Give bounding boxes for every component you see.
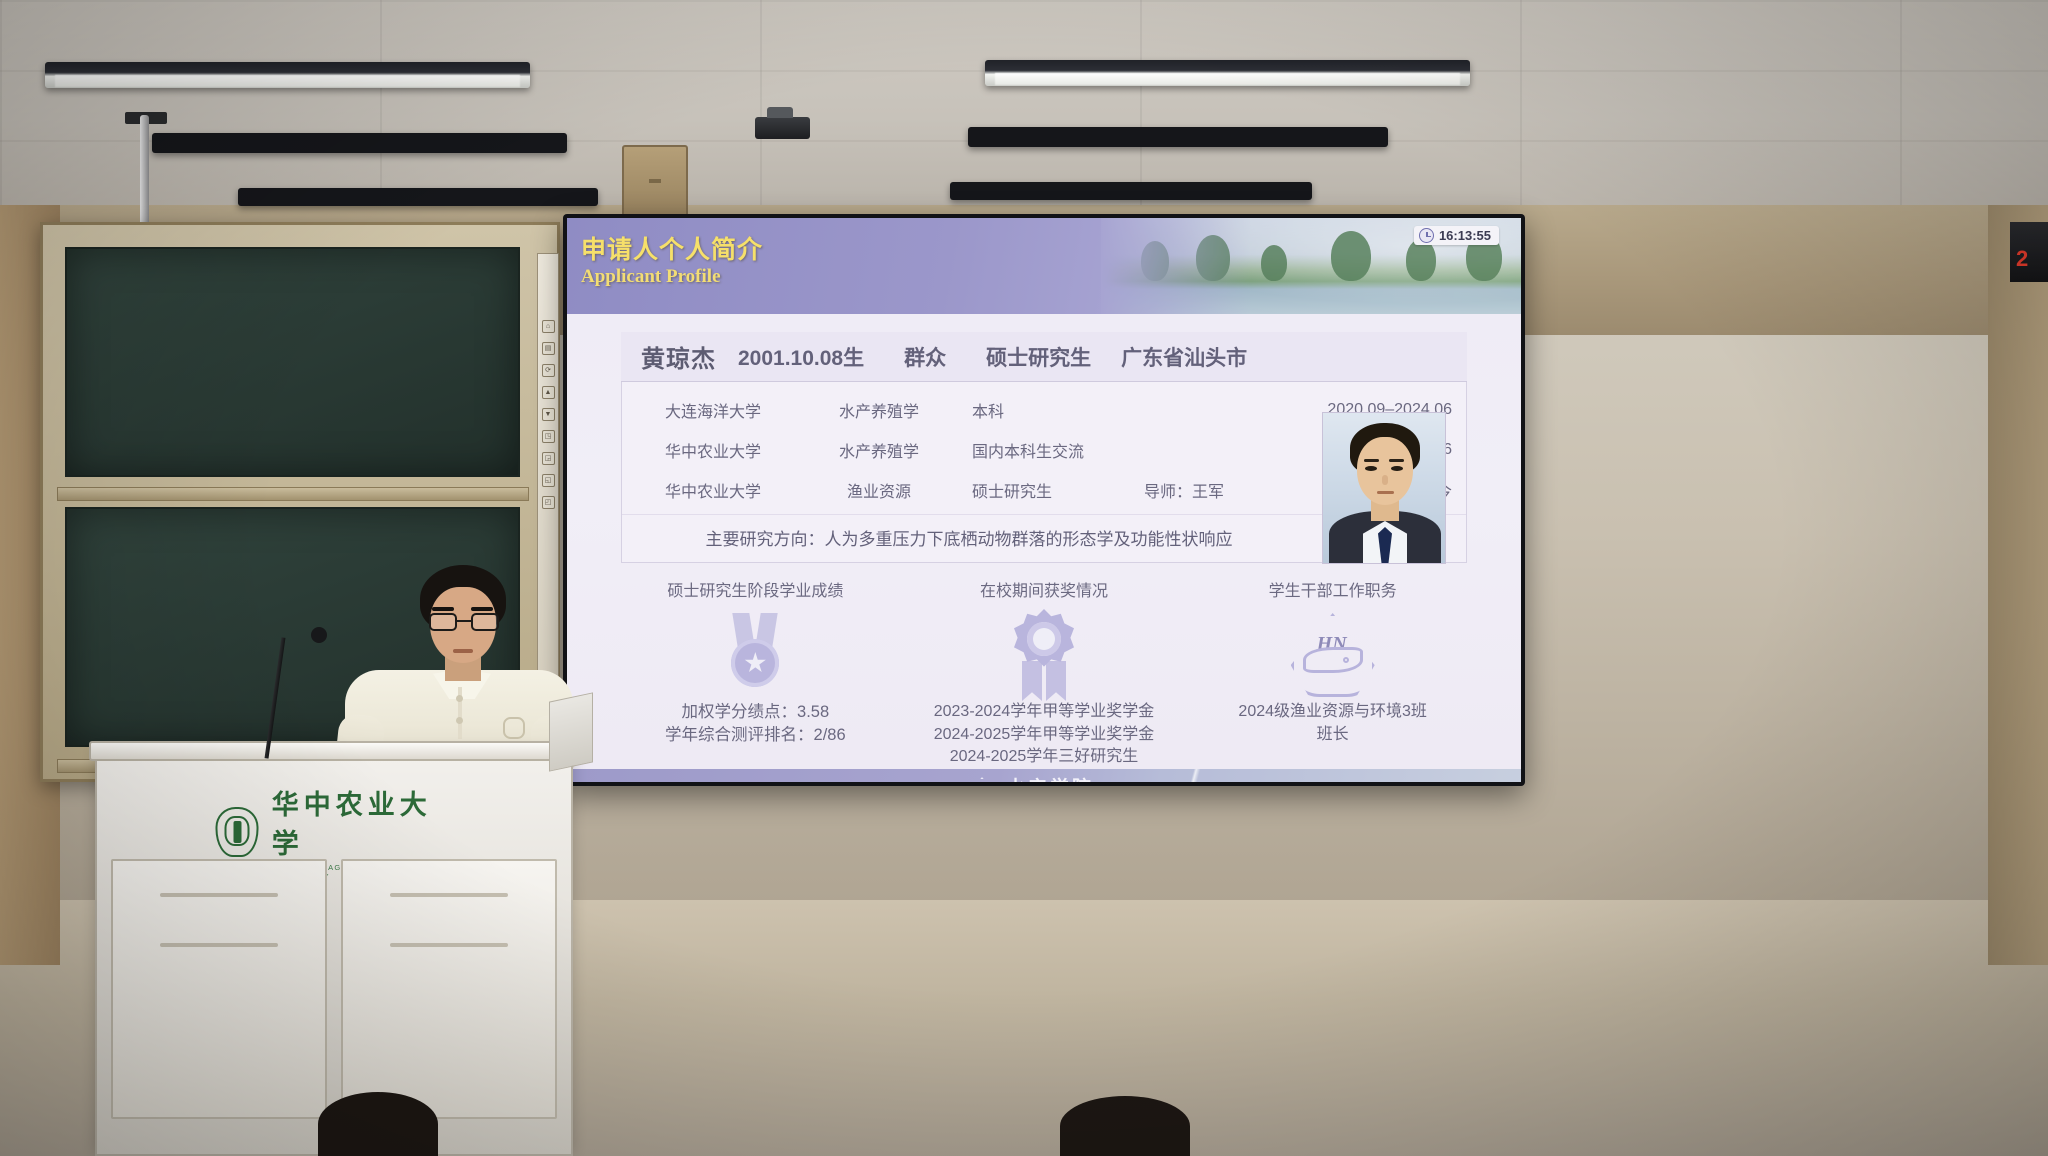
chalkboard-chalk-rail-top [57,487,529,501]
edu-advisor: 导师：王军 [1144,478,1266,502]
lectern-microphone-head [311,627,327,643]
fisheries-crest-icon [967,777,997,782]
edu-degree: 国内本科生交流 [954,438,1144,462]
slide-header: 申请人个人简介 Applicant Profile 16:13:55 [567,218,1521,314]
applicant-political-status: 群众 [904,342,946,372]
lectern-top [89,741,583,761]
university-name-chinese: 华中农业大学 [272,790,432,859]
board-control-button[interactable]: ◳ [542,430,555,443]
ceiling-light-3 [152,133,567,153]
exit-sign: 2 [2010,222,2048,282]
slide-title-english: Applicant Profile [581,266,721,288]
lectern-front-panels [111,859,557,1119]
college-motto: 上善若水 知敬笃行 [1232,781,1401,782]
presentation-slide: 申请人个人简介 Applicant Profile 16:13:55 黄琼杰 2… [567,218,1521,782]
clock-time: 16:13:55 [1439,228,1491,243]
ceiling-projector [755,117,810,139]
slide-clock: 16:13:55 [1414,226,1499,245]
edu-major: 水产养殖学 [804,398,954,422]
applicant-name: 黄琼杰 [641,339,716,374]
projection-screen: 申请人个人简介 Applicant Profile 16:13:55 黄琼杰 2… [563,214,1525,786]
ceiling-light-1 [45,62,530,88]
lectern-laptop [549,692,593,771]
right-wall-wood-trim [1988,205,2048,965]
award-line: 2023-2024学年甲等学业奖学金 [900,701,1189,724]
lectern-panel-right [341,859,557,1119]
edu-major: 水产养殖学 [804,438,954,462]
slide-title-chinese: 申请人个人简介 [581,230,763,266]
board-control-button[interactable]: ▼ [542,408,555,421]
column-text: 2023-2024学年甲等学业奖学金 2024-2025学年甲等学业奖学金 20… [900,701,1189,769]
column-text: 2024级渔业资源与环境3班 班长 [1188,701,1477,746]
ceiling-light-4 [968,127,1388,147]
class-line: 2024级渔业资源与环境3班 [1188,701,1477,724]
audience-head-left [318,1092,438,1156]
column-awards: 在校期间获奖情况 2023-2024学年甲等学业奖学金 2024-2025学年甲… [900,577,1189,769]
applicant-degree: 硕士研究生 [986,342,1091,372]
education-table: 大连海洋大学 水产养殖学 本科 2020.09–2024.06 华中农业大学 水… [621,382,1467,563]
applicant-name-bar: 黄琼杰 2001.10.08生 群众 硕士研究生 广东省汕头市 [621,332,1467,382]
edu-school: 华中农业大学 [622,478,804,502]
footer-divider [1158,769,1228,782]
role-line: 班长 [1188,724,1477,747]
clock-icon [1419,228,1434,243]
rosette-award-icon [900,609,1189,701]
exit-sign-number: 2 [2016,246,2028,272]
edu-degree: 本科 [954,398,1144,422]
slide-body: 黄琼杰 2001.10.08生 群众 硕士研究生 广东省汕头市 大连海洋大学 水… [567,314,1521,769]
award-line: 2024-2025学年三好研究生 [900,746,1189,769]
lectern-panel-left [111,859,327,1119]
column-heading: 在校期间获奖情况 [900,577,1189,601]
avatar [1322,412,1446,564]
column-student-leadership: 学生干部工作职务 HN 2024级渔业资源与环境3班 班长 [1188,577,1477,769]
board-control-button[interactable]: ◰ [542,496,555,509]
gpa-line: 加权学分绩点：3.58 [611,701,900,724]
slide-footer: 水产学院 COLLEGE OF FISHERIES 上善若水 知敬笃行 [567,769,1521,782]
hzau-crest-icon [216,807,259,857]
edu-degree: 硕士研究生 [954,478,1144,502]
achievement-columns: 硕士研究生阶段学业成绩 加权学分绩点：3.58 学年综合测评排名：2/86 [611,577,1477,769]
fisheries-crest-icon: HN [1188,609,1477,701]
board-control-button[interactable]: ▲ [542,386,555,399]
board-control-button[interactable]: ⌂ [542,320,555,333]
board-control-button[interactable]: ◲ [542,452,555,465]
column-academic-scores: 硕士研究生阶段学业成绩 加权学分绩点：3.58 学年综合测评排名：2/86 [611,577,900,769]
column-text: 加权学分绩点：3.58 学年综合测评排名：2/86 [611,701,900,748]
edu-school: 华中农业大学 [622,438,804,462]
rank-line: 学年综合测评排名：2/86 [611,724,900,747]
award-line: 2024-2025学年甲等学业奖学金 [900,724,1189,747]
edu-major: 渔业资源 [804,478,954,502]
edu-school: 大连海洋大学 [622,398,804,422]
ceiling-light-5 [238,188,598,206]
wall-vent [622,145,688,217]
applicant-hometown: 广东省汕头市 [1121,342,1247,372]
column-heading: 硕士研究生阶段学业成绩 [611,577,900,601]
college-name-chinese: 水产学院 [1006,778,1094,782]
lectern: 华中农业大学 HUAZHONG AGRICULTURAL UNIVERSITY [95,753,573,1156]
chalkboard-panel-top [65,247,520,477]
applicant-birthdate: 2001.10.08生 [738,342,864,372]
board-control-button[interactable]: ▤ [542,342,555,355]
column-heading: 学生干部工作职务 [1188,577,1477,601]
presenter [335,565,580,770]
lecture-hall-scene: ⌂ ▤ ⟳ ▲ ▼ ◳ ◲ ◱ ◰ 2 [0,0,2048,1156]
ceiling-light-6 [950,182,1312,200]
ceiling-light-2 [985,60,1470,86]
board-control-button[interactable]: ◱ [542,474,555,487]
medal-icon [611,609,900,701]
audience-head-right [1060,1096,1190,1156]
board-control-button[interactable]: ⟳ [542,364,555,377]
